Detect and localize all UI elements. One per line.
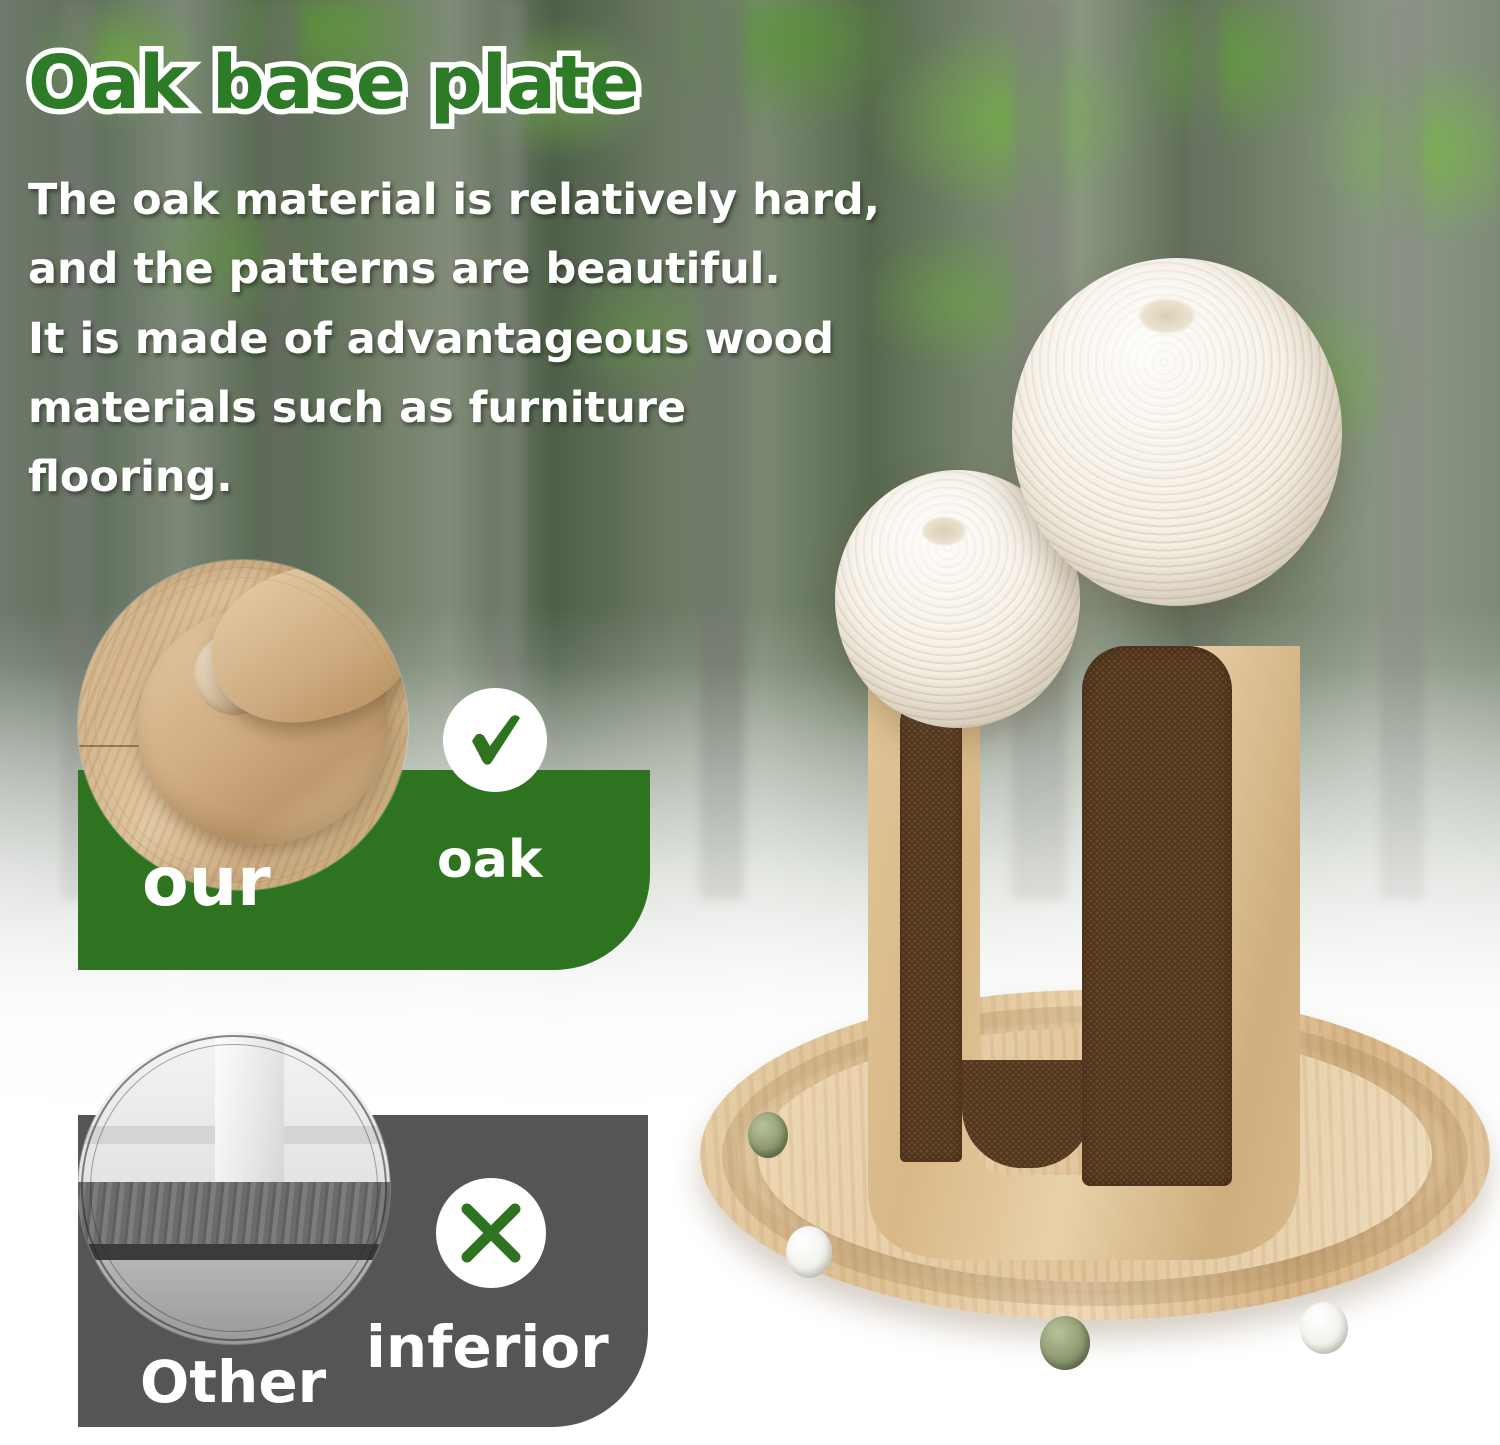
promo-graphic: Oak base plate The oak material is relat… <box>0 0 1500 1445</box>
label-oak: oak <box>437 830 542 890</box>
track-ball-green <box>1040 1316 1090 1370</box>
carpet-panel-arc <box>962 1060 1092 1168</box>
carpet-panel-left <box>900 692 962 1162</box>
track-ball-white <box>786 1226 832 1278</box>
description-line: The oak material is relatively hard, <box>28 168 908 233</box>
product-photo <box>660 230 1500 1445</box>
inferior-sample-image <box>78 1032 390 1344</box>
page-title: Oak base plate <box>28 40 639 126</box>
carpet-panel-right <box>1082 646 1232 1186</box>
check-icon <box>456 701 534 779</box>
label-other: Other <box>140 1348 326 1416</box>
cross-badge <box>436 1178 546 1288</box>
inferior-closeup-photo <box>78 1032 390 1344</box>
label-inferior: inferior <box>366 1313 609 1381</box>
oak-sample-image <box>78 560 408 890</box>
sisal-ball-large <box>1012 258 1342 606</box>
u-shaped-post <box>830 630 1340 1260</box>
check-badge <box>443 688 547 792</box>
label-our: our <box>142 843 271 922</box>
track-ball-green <box>748 1112 788 1158</box>
track-ball-white <box>1300 1302 1348 1354</box>
oak-closeup-photo <box>78 560 408 890</box>
cross-icon <box>449 1191 533 1275</box>
